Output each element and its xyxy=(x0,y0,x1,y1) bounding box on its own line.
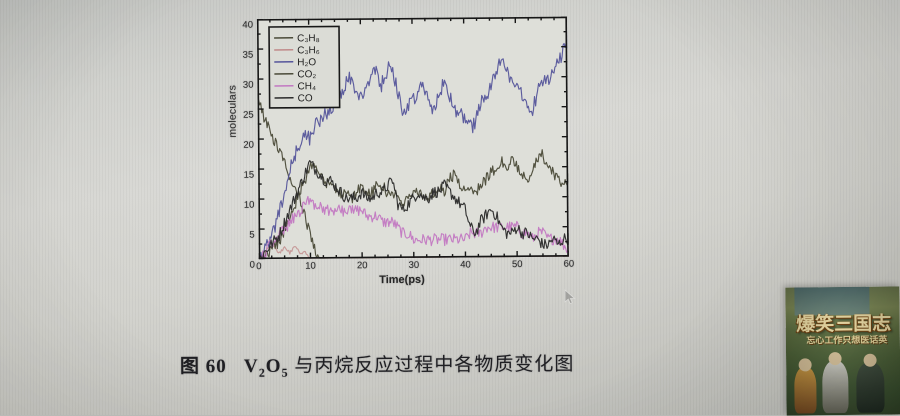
y-tick-label: 10 xyxy=(244,200,255,211)
caption-text: 与丙烷反应过程中各物质变化图 xyxy=(294,354,574,377)
legend-label: CO₂ xyxy=(297,69,316,80)
y-tick-label: 35 xyxy=(243,50,254,61)
caption-formula: V2O5 xyxy=(244,356,289,377)
y-tick-label: 30 xyxy=(243,80,254,91)
plot-svg: C₃H₈C₃H₆H₂OCO₂CH₄CO xyxy=(257,17,569,259)
x-tick-label: 20 xyxy=(357,260,368,271)
y-tick-label: 5 xyxy=(249,230,254,241)
x-tick-label: 10 xyxy=(305,261,316,272)
x-axis-label: Time(ps) xyxy=(237,273,567,288)
chart-figure: moleculars 0510152025303540 C₃H₈C₃H₆H₂OC… xyxy=(195,6,597,299)
legend-label: C₃H₆ xyxy=(297,45,320,56)
figure-caption: 图 60 V2O5 与丙烷反应过程中各物质变化图 xyxy=(180,349,640,382)
plot-area: C₃H₈C₃H₆H₂OCO₂CH₄CO xyxy=(257,17,569,259)
y-tick-label: 15 xyxy=(244,170,255,181)
legend-label: CO xyxy=(298,93,313,104)
chart-legend: C₃H₈C₃H₆H₂OCO₂CH₄CO xyxy=(269,26,340,108)
popup-ad[interactable]: 爆笑三国志 忘心工作只想医话英 xyxy=(785,286,900,415)
x-tick-label: 30 xyxy=(409,260,420,271)
x-tick-label: 40 xyxy=(460,259,471,270)
y-tick-label: 40 xyxy=(242,20,253,31)
x-tick-label: 60 xyxy=(564,259,575,270)
y-axis-tick-labels: 0510152025303540 xyxy=(227,15,255,259)
y-tick-label: 25 xyxy=(243,110,254,121)
caption-figure-number: 图 60 xyxy=(180,356,227,377)
y-tick-label: 20 xyxy=(243,140,254,151)
legend-label: H₂O xyxy=(297,57,316,68)
ad-blur-overlay xyxy=(785,286,900,415)
mouse-cursor-icon xyxy=(564,289,578,305)
x-tick-label: 0 xyxy=(256,261,261,272)
x-tick-label: 50 xyxy=(512,259,523,270)
legend-label: C₃H₈ xyxy=(297,33,320,44)
legend-label: CH₄ xyxy=(297,81,316,92)
